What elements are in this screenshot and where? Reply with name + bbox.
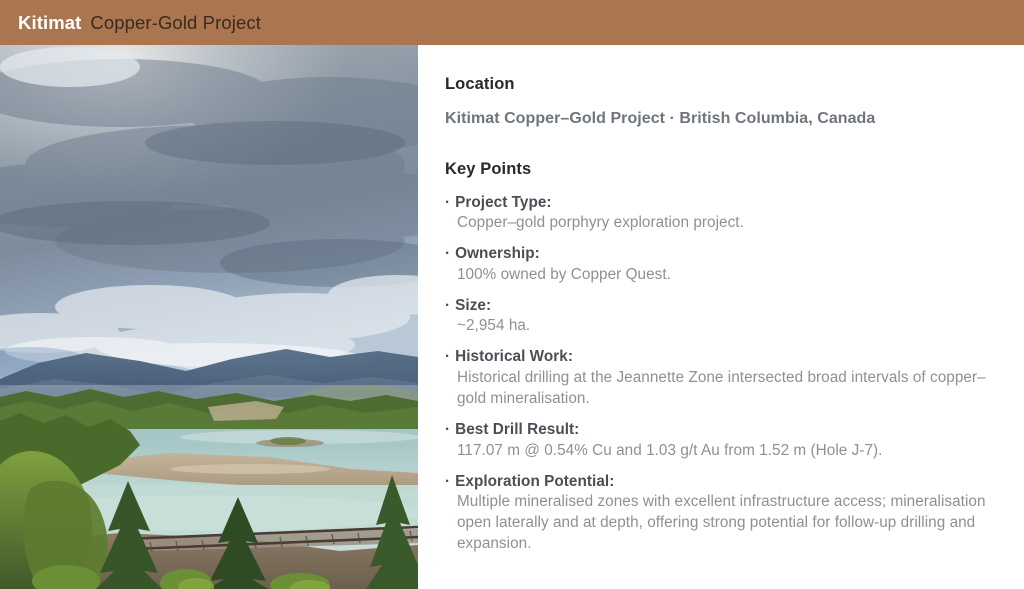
list-item: · Exploration Potential: Multiple minera… <box>445 472 1004 556</box>
key-points-list: · Project Type: Copper–gold porphyry exp… <box>445 193 1004 555</box>
list-item: · Best Drill Result: 117.07 m @ 0.54% Cu… <box>445 420 1004 462</box>
key-point-body: Copper–gold porphyry exploration project… <box>445 213 1004 234</box>
bullet-dot-icon: · <box>445 472 450 493</box>
landscape-photo-icon <box>0 45 418 589</box>
project-landscape-photo <box>0 45 418 589</box>
header-bar: Kitimat Copper-Gold Project <box>0 0 1024 45</box>
key-point-label-row: · Size: <box>445 296 1004 317</box>
key-point-body: 100% owned by Copper Quest. <box>445 265 1004 286</box>
key-point-label: Size: <box>455 296 491 317</box>
key-point-body: Multiple mineralised zones with excellen… <box>445 492 1004 555</box>
key-point-label-row: · Ownership: <box>445 244 1004 265</box>
bullet-dot-icon: · <box>445 296 450 317</box>
key-points-heading: Key Points <box>445 160 1004 180</box>
list-item: · Size: ~2,954 ha. <box>445 296 1004 338</box>
project-summary-card: Kitimat Copper-Gold Project <box>0 0 1024 589</box>
location-heading: Location <box>445 75 1004 95</box>
key-point-label-row: · Best Drill Result: <box>445 420 1004 441</box>
list-item: · Project Type: Copper–gold porphyry exp… <box>445 193 1004 235</box>
key-point-label: Ownership: <box>455 244 540 265</box>
header-title: Kitimat <box>18 12 81 34</box>
key-point-label: Exploration Potential: <box>455 472 614 493</box>
bullet-dot-icon: · <box>445 420 450 441</box>
bullet-dot-icon: · <box>445 347 450 368</box>
header-subtitle: Copper-Gold Project <box>90 12 261 34</box>
project-details-panel: Location Kitimat Copper–Gold Project · B… <box>418 45 1024 589</box>
key-point-body: 117.07 m @ 0.54% Cu and 1.03 g/t Au from… <box>445 441 1004 462</box>
key-point-label-row: · Exploration Potential: <box>445 472 1004 493</box>
key-point-label: Historical Work: <box>455 347 573 368</box>
list-item: · Historical Work: Historical drilling a… <box>445 347 1004 410</box>
bullet-dot-icon: · <box>445 244 450 265</box>
key-point-label-row: · Historical Work: <box>445 347 1004 368</box>
key-point-body: Historical drilling at the Jeannette Zon… <box>445 368 1004 410</box>
list-item: · Ownership: 100% owned by Copper Quest. <box>445 244 1004 286</box>
key-point-label: Best Drill Result: <box>455 420 579 441</box>
key-point-body: ~2,954 ha. <box>445 316 1004 337</box>
key-point-label-row: · Project Type: <box>445 193 1004 214</box>
bullet-dot-icon: · <box>445 193 450 214</box>
location-value: Kitimat Copper–Gold Project · British Co… <box>445 109 1004 129</box>
key-point-label: Project Type: <box>455 193 551 214</box>
